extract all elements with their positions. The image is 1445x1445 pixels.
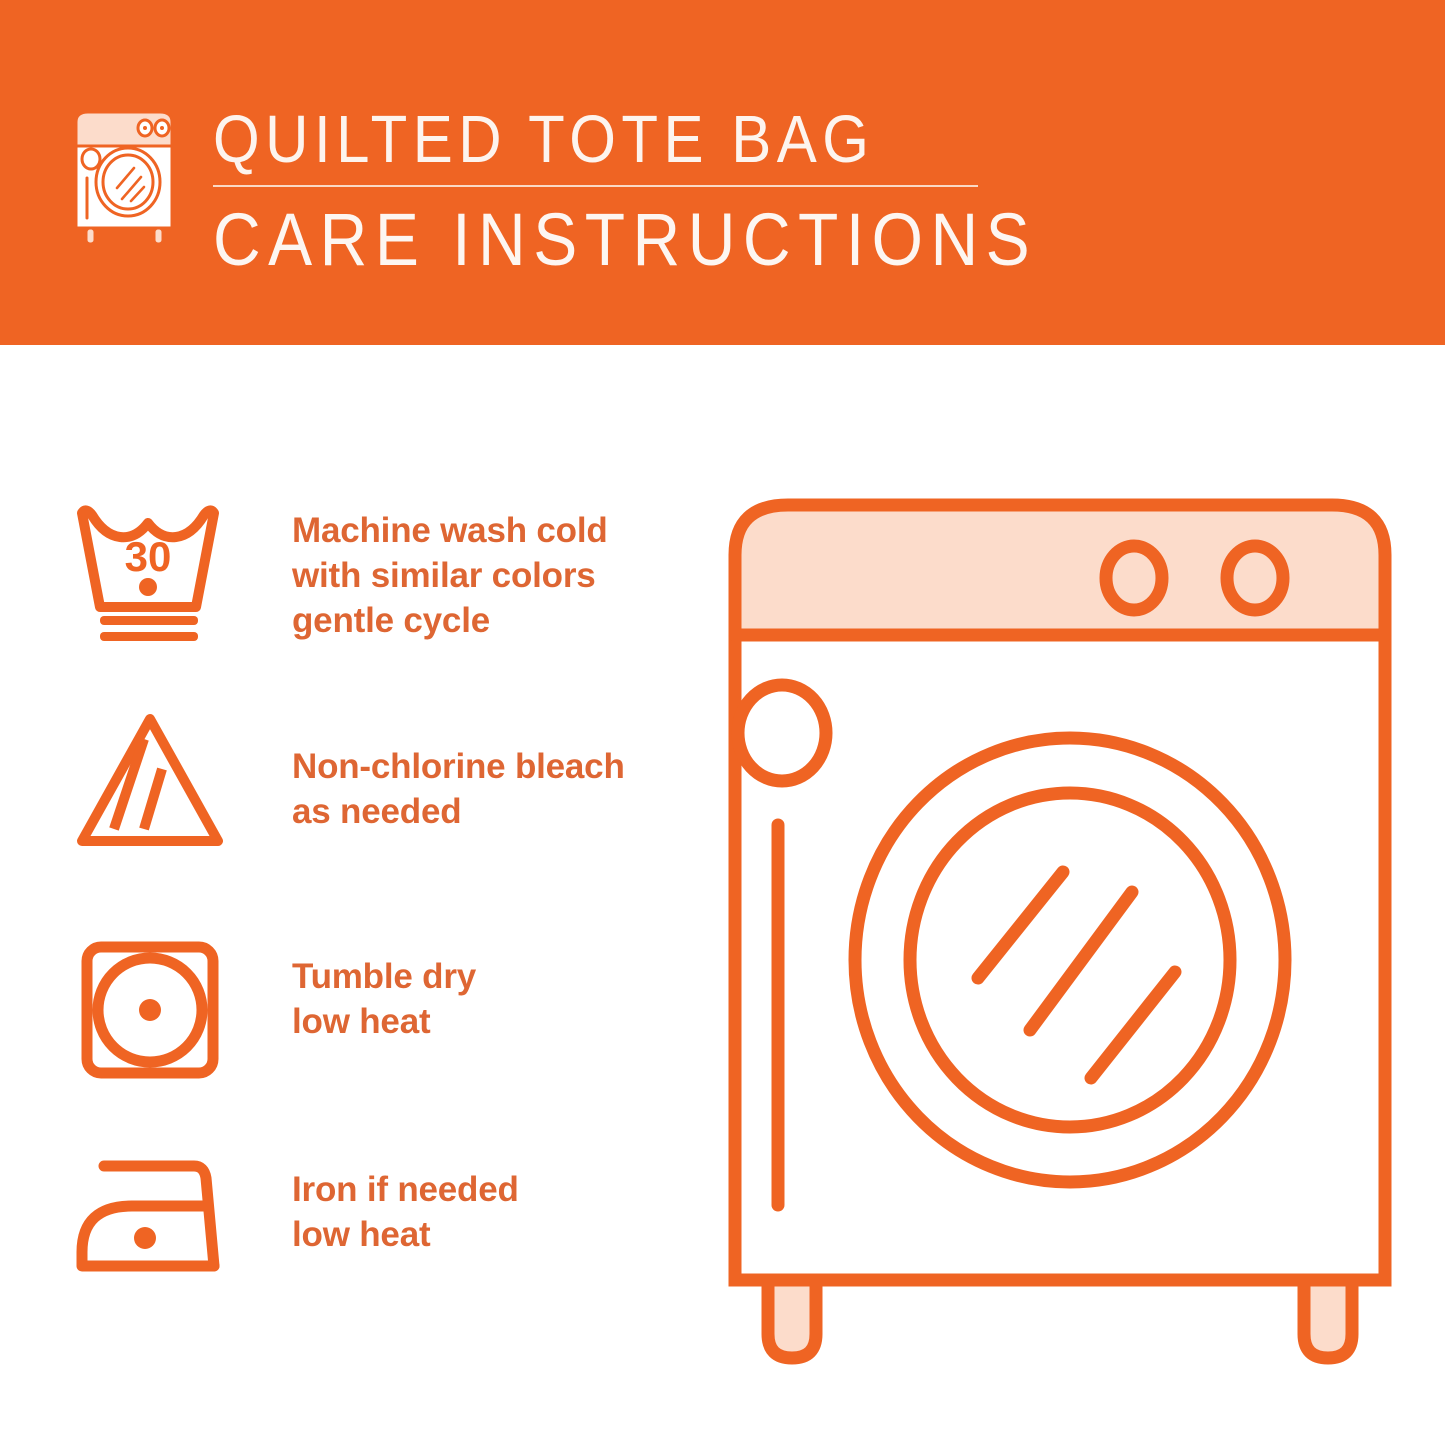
care-instructions-infographic: QUILTED TOTE BAG CARE INSTRUCTIONS 30 [0, 0, 1445, 1445]
care-line: as needed [292, 790, 625, 835]
care-line: Non-chlorine bleach [292, 745, 625, 790]
large-washing-machine-illustration [700, 460, 1420, 1380]
svg-text:30: 30 [125, 533, 172, 580]
iron-low-heat-symbol [70, 1140, 230, 1300]
care-item-label: Non-chlorine bleach as needed [292, 745, 625, 835]
non-chlorine-bleach-triangle-symbol [70, 707, 230, 867]
page-title: QUILTED TOTE BAG [213, 104, 983, 175]
header-text-block: QUILTED TOTE BAG CARE INSTRUCTIONS [213, 104, 983, 270]
tumble-dry-low-heat-symbol [70, 930, 230, 1090]
care-line: low heat [292, 1213, 519, 1258]
care-line: gentle cycle [292, 599, 608, 644]
page-subtitle: CARE INSTRUCTIONS [213, 201, 983, 279]
care-item-label: Iron if needed low heat [292, 1168, 519, 1258]
care-line: low heat [292, 1000, 476, 1045]
title-divider [213, 185, 978, 187]
care-line: Tumble dry [292, 955, 476, 1000]
care-line: Machine wash cold [292, 509, 608, 554]
washing-machine-icon [62, 100, 190, 248]
header-band: QUILTED TOTE BAG CARE INSTRUCTIONS [0, 0, 1445, 345]
care-item-label: Tumble dry low heat [292, 955, 476, 1045]
care-line: with similar colors [292, 554, 608, 599]
wash-basin-30-gentle-symbol: 30 [70, 495, 230, 655]
care-instructions-list: 30 Machine wash cold with similar colors… [0, 345, 700, 1445]
care-line: Iron if needed [292, 1168, 519, 1213]
care-item-label: Machine wash cold with similar colors ge… [292, 509, 608, 643]
